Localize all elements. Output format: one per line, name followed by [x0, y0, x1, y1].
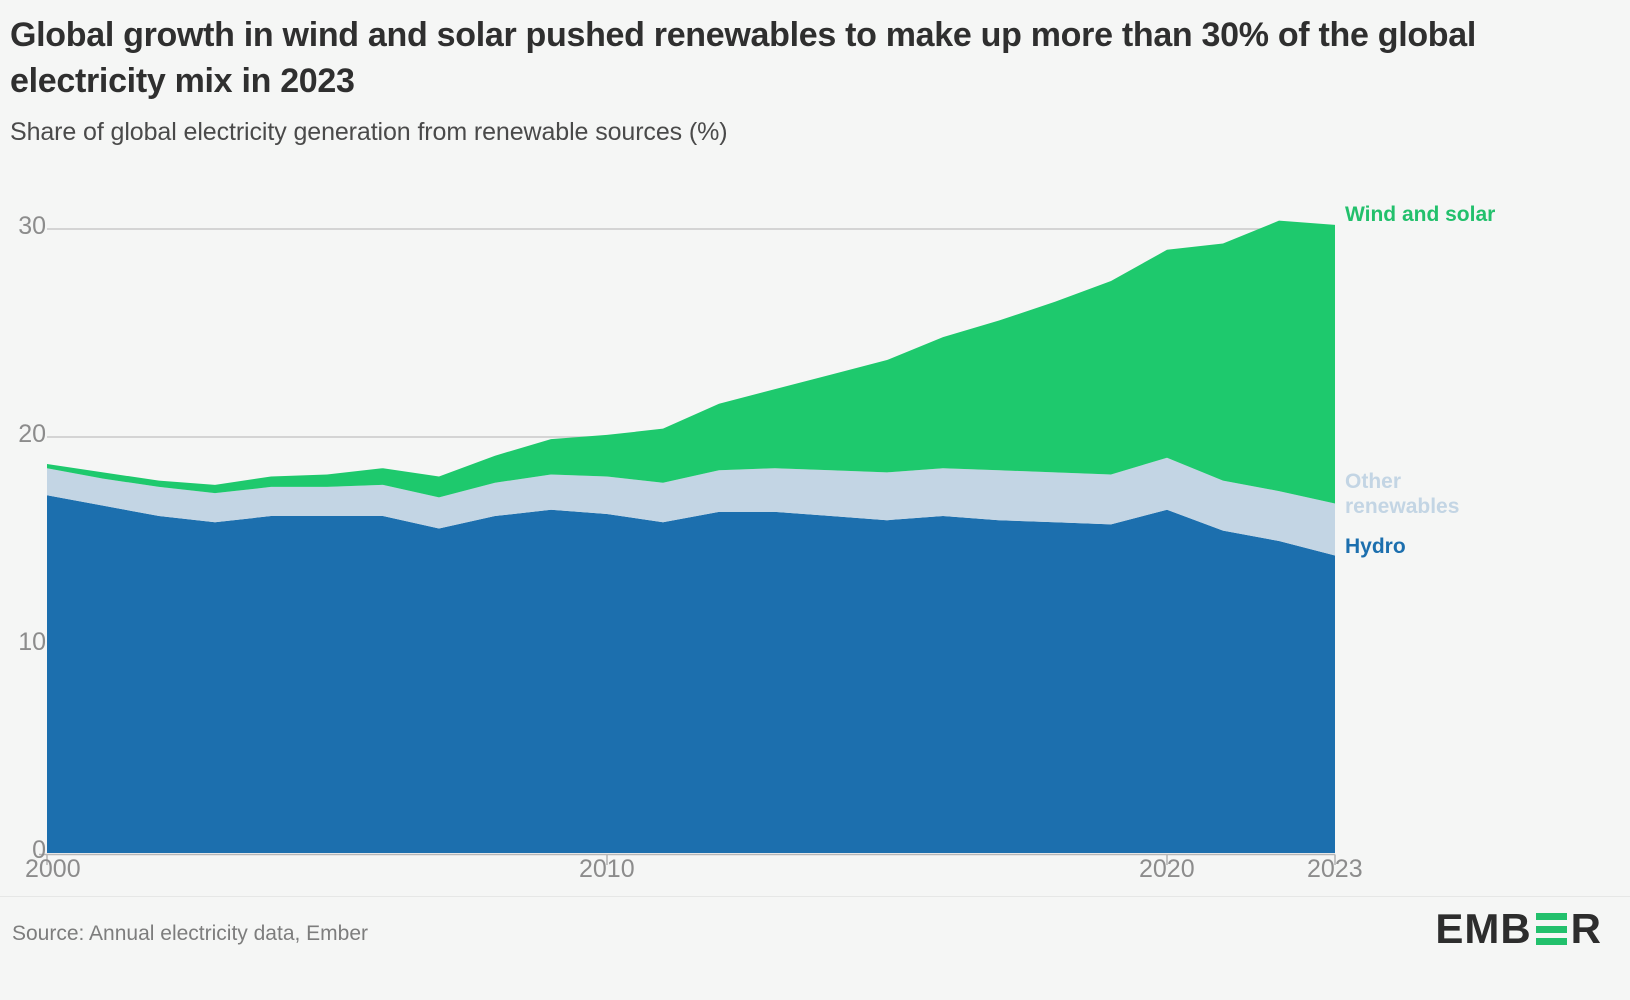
x-axis-tick-2020: 2020 — [1139, 855, 1195, 884]
stacked-area-chart — [0, 180, 1630, 880]
footer-divider — [0, 896, 1630, 897]
ember-logo: EMB R — [1435, 905, 1602, 953]
chart-plot-area — [0, 180, 1630, 880]
x-axis-tick-2023: 2023 — [1307, 855, 1363, 884]
area-series-wind-and-solar — [47, 221, 1335, 504]
y-axis-tick-20: 20 — [0, 420, 46, 449]
chart-page: Global growth in wind and solar pushed r… — [0, 0, 1630, 1000]
page-title: Global growth in wind and solar pushed r… — [10, 12, 1530, 104]
ember-logo-prefix: EMB — [1435, 908, 1531, 950]
x-axis-tick-2010: 2010 — [579, 855, 635, 884]
y-axis-tick-30: 30 — [0, 212, 46, 241]
ember-logo-e-icon — [1536, 913, 1567, 945]
ember-logo-suffix: R — [1571, 908, 1602, 950]
area-series-hydro — [47, 495, 1335, 853]
y-axis-tick-10: 10 — [0, 628, 46, 657]
legend-item-hydro: Hydro — [1345, 535, 1406, 560]
x-axis-tick-2000: 2000 — [25, 855, 81, 884]
legend-item-wind-and-solar: Wind and solar — [1345, 203, 1495, 228]
chart-subtitle: Share of global electricity generation f… — [10, 118, 727, 147]
legend-other-line1: Other — [1345, 470, 1401, 493]
source-note: Source: Annual electricity data, Ember — [12, 922, 368, 946]
legend-other-line2: renewables — [1345, 495, 1459, 518]
legend-item-other-renewables: Otherrenewables — [1345, 470, 1495, 520]
